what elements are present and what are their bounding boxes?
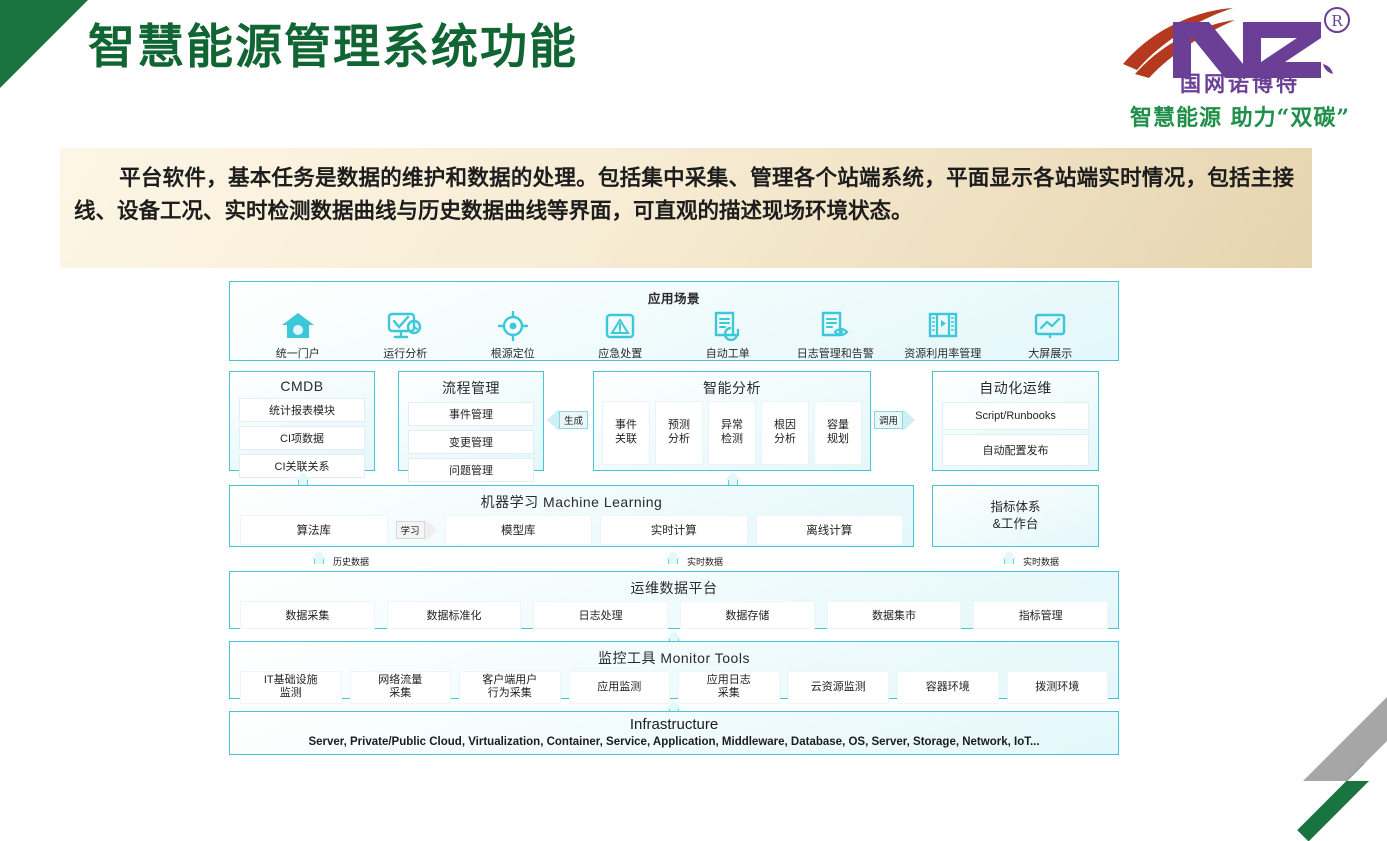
arrow-right-icon (903, 409, 915, 431)
data-platform-item[interactable]: 指标管理 (973, 601, 1108, 629)
panel-kpi-workbench: 指标体系 &工作台 (932, 485, 1099, 547)
data-platform-item[interactable]: 数据存储 (680, 601, 815, 629)
monitor-item[interactable]: 应用监测 (569, 671, 671, 704)
panel-intelligent-analysis: 智能分析 事件 关联 预测 分析 异常 检测 根因 分析 (593, 371, 871, 471)
process-item[interactable]: 变更管理 (408, 430, 534, 454)
home-icon (249, 309, 347, 343)
monitor-check-icon (356, 309, 454, 343)
data-platform-item[interactable]: 数据集市 (827, 601, 962, 629)
monitor-item[interactable]: 拨测环境 (1007, 671, 1109, 704)
monitor-item[interactable]: 容器环境 (897, 671, 999, 704)
connector-label-history-data: 历史数据 (333, 555, 369, 568)
warning-icon (571, 309, 669, 343)
document-refresh-icon (679, 309, 777, 343)
monitor-tools-row: IT基础设施 监测 网络流量 采集 客户端用户 行为采集 应用监测 应用日志 采… (230, 668, 1118, 704)
kpi-line2: &工作台 (990, 516, 1040, 534)
cmdb-item[interactable]: CI项数据 (239, 426, 365, 450)
monitor-item-line1: IT基础设施 (241, 674, 341, 687)
ai-item[interactable]: 容量 规划 (814, 401, 862, 465)
svg-text:R: R (1331, 12, 1343, 30)
scenario-label: 日志管理和告警 (786, 345, 884, 361)
panel-title-ops-data-platform: 运维数据平台 (230, 572, 1118, 598)
ml-item-algorithm-library[interactable]: 算法库 (240, 515, 388, 545)
ai-item-line2: 分析 (774, 433, 796, 447)
panel-cmdb: CMDB 统计报表模块 CI项数据 CI关联关系 (229, 371, 375, 471)
scenario-label: 大屏展示 (1001, 345, 1099, 361)
ai-item-line1: 根因 (774, 419, 796, 433)
monitor-item-line1: 应用监测 (570, 674, 670, 701)
kpi-line1: 指标体系 (990, 499, 1040, 517)
monitor-item[interactable]: 云资源监测 (788, 671, 890, 704)
ai-item[interactable]: 预测 分析 (655, 401, 703, 465)
data-platform-row: 数据采集 数据标准化 日志处理 数据存储 数据集市 指标管理 (230, 598, 1118, 629)
ai-item[interactable]: 根因 分析 (761, 401, 809, 465)
ai-item-line1: 事件 (615, 419, 637, 433)
intelligent-analysis-grid: 事件 关联 预测 分析 异常 检测 根因 分析 容量 规划 (594, 398, 870, 465)
ai-item[interactable]: 异常 检测 (708, 401, 756, 465)
arrow-invoke-label: 调用 (874, 411, 903, 429)
monitor-item-line2: 监测 (241, 687, 341, 700)
description-box: 平台软件，基本任务是数据的维护和数据的处理。包括集中采集、管理各个站端系统，平面… (60, 148, 1312, 268)
chart-screen-icon (1001, 309, 1099, 343)
scenario-label: 应急处置 (571, 345, 669, 361)
logo-tagline: 智慧能源 助力“双碳” (1115, 100, 1365, 132)
monitor-item-line1: 网络流量 (351, 674, 451, 687)
page-title: 智慧能源管理系统功能 (88, 8, 578, 77)
arrow-learn-label: 学习 (396, 521, 425, 539)
scenario-item-auto-work-order[interactable]: 自动工单 (679, 309, 777, 361)
data-platform-item[interactable]: 数据标准化 (387, 601, 522, 629)
ml-item[interactable]: 实时计算 (600, 515, 748, 545)
monitor-item-line2: 采集 (351, 687, 451, 700)
automation-item[interactable]: Script/Runbooks (942, 402, 1089, 430)
company-logo: R 国网诺博特 智慧能源 助力“双碳” (1115, 4, 1365, 132)
panel-automation-ops: 自动化运维 Script/Runbooks 自动配置发布 (932, 371, 1099, 471)
scenario-item-large-screen-display[interactable]: 大屏展示 (1001, 309, 1099, 361)
data-platform-item[interactable]: 日志处理 (533, 601, 668, 629)
panel-machine-learning: 机器学习 Machine Learning 算法库 学习 模型库 实时计算 离线… (229, 485, 914, 547)
monitor-item[interactable]: IT基础设施 监测 (240, 671, 342, 704)
data-platform-item[interactable]: 数据采集 (240, 601, 375, 629)
monitor-item-line1: 客户端用户 (460, 674, 560, 687)
monitor-item-line2: 采集 (679, 687, 779, 700)
connector-arrow-realtime-data (665, 551, 681, 564)
scenario-label: 统一门户 (249, 345, 347, 361)
process-item[interactable]: 问题管理 (408, 458, 534, 482)
panel-title-application-scenarios: 应用场景 (230, 282, 1118, 307)
monitor-item-line2: 行为采集 (460, 687, 560, 700)
arrow-invoke: 调用 (874, 409, 915, 431)
logo-company-name: 国网诺博特 (1115, 68, 1365, 98)
panel-title-machine-learning: 机器学习 Machine Learning (230, 486, 913, 512)
ml-item[interactable]: 离线计算 (756, 515, 904, 545)
connector-arrow-ai-up (725, 472, 741, 485)
architecture-diagram: 应用场景 统一门户 运行分析 根源定位 (229, 281, 1119, 761)
scenario-item-run-analysis[interactable]: 运行分析 (356, 309, 454, 361)
scenario-label: 根源定位 (464, 345, 562, 361)
machine-learning-row: 算法库 学习 模型库 实时计算 离线计算 (230, 512, 913, 545)
monitor-item[interactable]: 客户端用户 行为采集 (459, 671, 561, 704)
monitor-item-line1: 拨测环境 (1008, 674, 1108, 701)
arrow-right-icon (425, 519, 437, 541)
monitor-item-line1: 云资源监测 (789, 674, 889, 701)
scenario-item-resource-utilization[interactable]: 资源利用率管理 (894, 309, 992, 361)
ai-item-line2: 检测 (721, 433, 743, 447)
panel-title-monitor-tools: 监控工具 Monitor Tools (230, 642, 1118, 668)
corner-decoration-bottom-right-white (1347, 741, 1387, 781)
panel-title-process-management: 流程管理 (399, 372, 543, 398)
monitor-item-line1: 容器环境 (898, 674, 998, 701)
panel-infrastructure: Infrastructure Server, Private/Public Cl… (229, 711, 1119, 755)
scenario-item-unified-portal[interactable]: 统一门户 (249, 309, 347, 361)
row-platform-modules: CMDB 统计报表模块 CI项数据 CI关联关系 流程管理 事件管理 变更管理 … (229, 371, 1119, 471)
ai-item-line2: 分析 (668, 433, 690, 447)
connector-arrow-realtime-data-right (1001, 551, 1017, 564)
ai-item-line1: 异常 (721, 419, 743, 433)
description-text: 平台软件，基本任务是数据的维护和数据的处理。包括集中采集、管理各个站端系统，平面… (74, 162, 1294, 229)
monitor-item[interactable]: 应用日志 采集 (678, 671, 780, 704)
connector-arrow-history-data (311, 551, 327, 564)
automation-item[interactable]: 自动配置发布 (942, 434, 1089, 466)
arrow-generate: 生成 (547, 409, 588, 431)
panel-application-scenarios: 应用场景 统一门户 运行分析 根源定位 (229, 281, 1119, 361)
target-icon (464, 309, 562, 343)
ai-item-line1: 容量 (827, 419, 849, 433)
scenario-item-emergency-handling[interactable]: 应急处置 (571, 309, 669, 361)
connector-arrow-cmdb-up (295, 472, 311, 485)
arrow-learn: 学习 (396, 519, 437, 541)
scenario-item-root-cause-location[interactable]: 根源定位 (464, 309, 562, 361)
scenario-label: 运行分析 (356, 345, 454, 361)
infrastructure-title: Infrastructure (230, 712, 1118, 733)
media-panel-icon (894, 309, 992, 343)
monitor-item[interactable]: 网络流量 采集 (350, 671, 452, 704)
scenario-label: 资源利用率管理 (894, 345, 992, 361)
corner-decoration-top-left (0, 0, 88, 88)
panel-title-cmdb: CMDB (230, 372, 374, 394)
process-item[interactable]: 事件管理 (408, 402, 534, 426)
cmdb-item[interactable]: 统计报表模块 (239, 398, 365, 422)
ai-item-line2: 关联 (615, 433, 637, 447)
infrastructure-subtitle: Server, Private/Public Cloud, Virtualiza… (230, 733, 1118, 748)
row-machine-learning: 机器学习 Machine Learning 算法库 学习 模型库 实时计算 离线… (229, 485, 1119, 547)
ai-item-line2: 规划 (827, 433, 849, 447)
ml-item[interactable]: 模型库 (445, 515, 593, 545)
ai-item-line1: 预测 (668, 419, 690, 433)
panel-ops-data-platform: 运维数据平台 数据采集 数据标准化 日志处理 数据存储 数据集市 指标管理 (229, 571, 1119, 629)
arrow-generate-label: 生成 (559, 411, 588, 429)
panel-process-management: 流程管理 事件管理 变更管理 问题管理 (398, 371, 544, 471)
scenario-item-log-management-alarm[interactable]: 日志管理和告警 (786, 309, 884, 361)
monitor-item-line1: 应用日志 (679, 674, 779, 687)
panel-title-intelligent-analysis: 智能分析 (594, 372, 870, 398)
panel-title-automation-ops: 自动化运维 (933, 372, 1098, 398)
connector-label-realtime-data: 实时数据 (687, 555, 723, 568)
arrow-left-icon (547, 409, 559, 431)
scenario-label: 自动工单 (679, 345, 777, 361)
panel-monitor-tools: 监控工具 Monitor Tools IT基础设施 监测 网络流量 采集 客户端… (229, 641, 1119, 699)
document-eye-icon (786, 309, 884, 343)
scenario-list: 统一门户 运行分析 根源定位 应急处置 (230, 307, 1118, 361)
connector-label-realtime-data-right: 实时数据 (1023, 555, 1059, 568)
kpi-text: 指标体系 &工作台 (990, 499, 1040, 534)
ai-item[interactable]: 事件 关联 (602, 401, 650, 465)
